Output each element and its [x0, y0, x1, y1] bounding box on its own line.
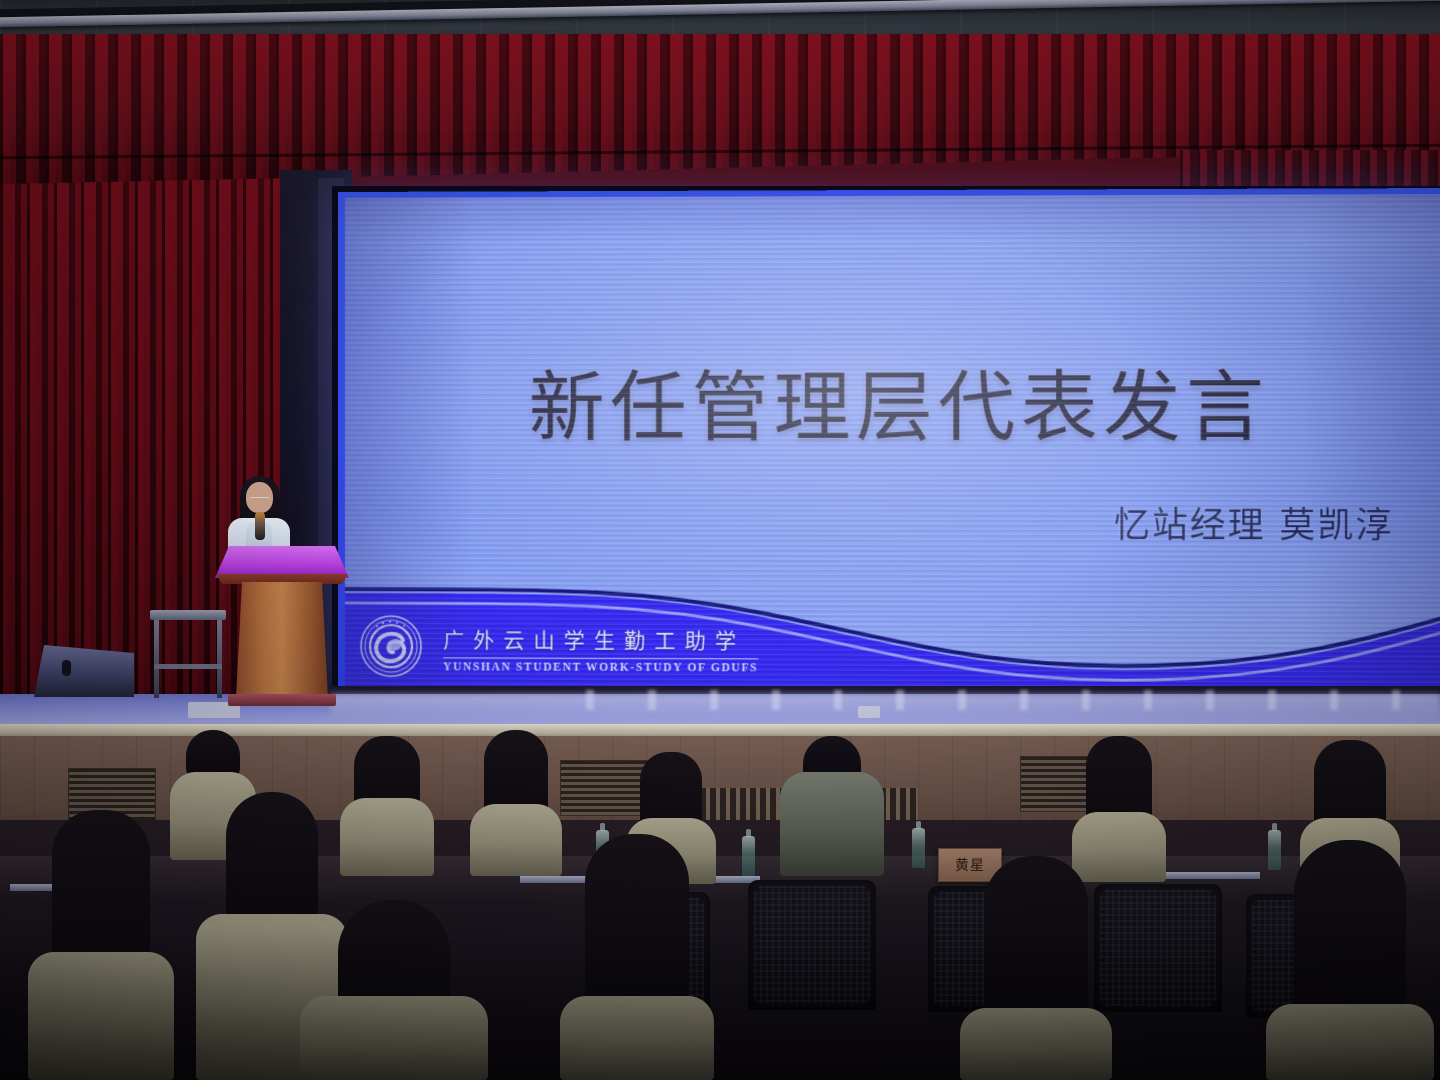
- side-table: [150, 610, 226, 698]
- side-table-rung: [154, 664, 222, 669]
- audience-member-front: [780, 736, 884, 876]
- water-bottle: [742, 836, 755, 876]
- audience-member: [340, 736, 434, 876]
- person-torso: [28, 952, 174, 1080]
- person-torso: [780, 772, 884, 876]
- audience-chair: [1094, 884, 1222, 1012]
- audience-member-near: [28, 810, 174, 1080]
- slide-title: 新任管理层代表发言: [345, 344, 1440, 456]
- microphone-icon: [255, 512, 265, 540]
- audience-member-near: [960, 856, 1112, 1080]
- person-torso: [560, 996, 714, 1080]
- audience-member: [470, 730, 562, 876]
- stage-prop-small: [858, 706, 880, 718]
- person-torso: [470, 804, 562, 876]
- slide-subtitle: 忆站经理 莫凯淳: [1114, 497, 1393, 549]
- podium-lectern-top: [215, 546, 349, 578]
- audience-chair: [748, 880, 876, 1010]
- person-torso: [300, 996, 488, 1080]
- water-bottle: [912, 828, 925, 868]
- brand-text-block: 广外云山学生勤工助学 YUNSHAN STUDENT WORK-STUDY OF…: [443, 620, 758, 674]
- side-table-leg: [217, 620, 222, 698]
- audience-member-near: [560, 834, 714, 1080]
- presentation-slide: 新任管理层代表发言 忆站经理 莫凯淳: [345, 194, 1440, 693]
- brand-english-name: YUNSHAN STUDENT WORK-STUDY OF GDUFS: [443, 661, 758, 674]
- person-torso: [340, 798, 434, 876]
- floor-monitor-speaker: [34, 645, 134, 697]
- audience-member-near: [300, 900, 488, 1080]
- side-table-top: [150, 610, 226, 620]
- brand-chinese-name: 广外云山学生勤工助学: [443, 624, 758, 655]
- monitor-handle-icon: [62, 660, 71, 676]
- projection-screen: 新任管理层代表发言 忆站经理 莫凯淳: [338, 188, 1440, 693]
- person-torso: [960, 1008, 1112, 1080]
- podium-base: [228, 694, 336, 706]
- person-torso: [1266, 1004, 1434, 1080]
- slide-brand-lockup: 广外云山学生勤工助学 YUNSHAN STUDENT WORK-STUDY OF…: [359, 609, 758, 684]
- speaker-glasses-icon: [249, 497, 270, 504]
- audience-member-near: [1266, 840, 1434, 1080]
- side-table-leg: [154, 620, 159, 698]
- stage-floor-reflections: [560, 690, 1440, 710]
- yunshan-swirl-logo-icon: [359, 614, 423, 678]
- auditorium-scene: 新任管理层代表发言 忆站经理 莫凯淳: [0, 0, 1440, 1080]
- person-head: [984, 856, 1088, 1032]
- podium-body: [236, 582, 328, 698]
- brand-divider: [443, 657, 758, 659]
